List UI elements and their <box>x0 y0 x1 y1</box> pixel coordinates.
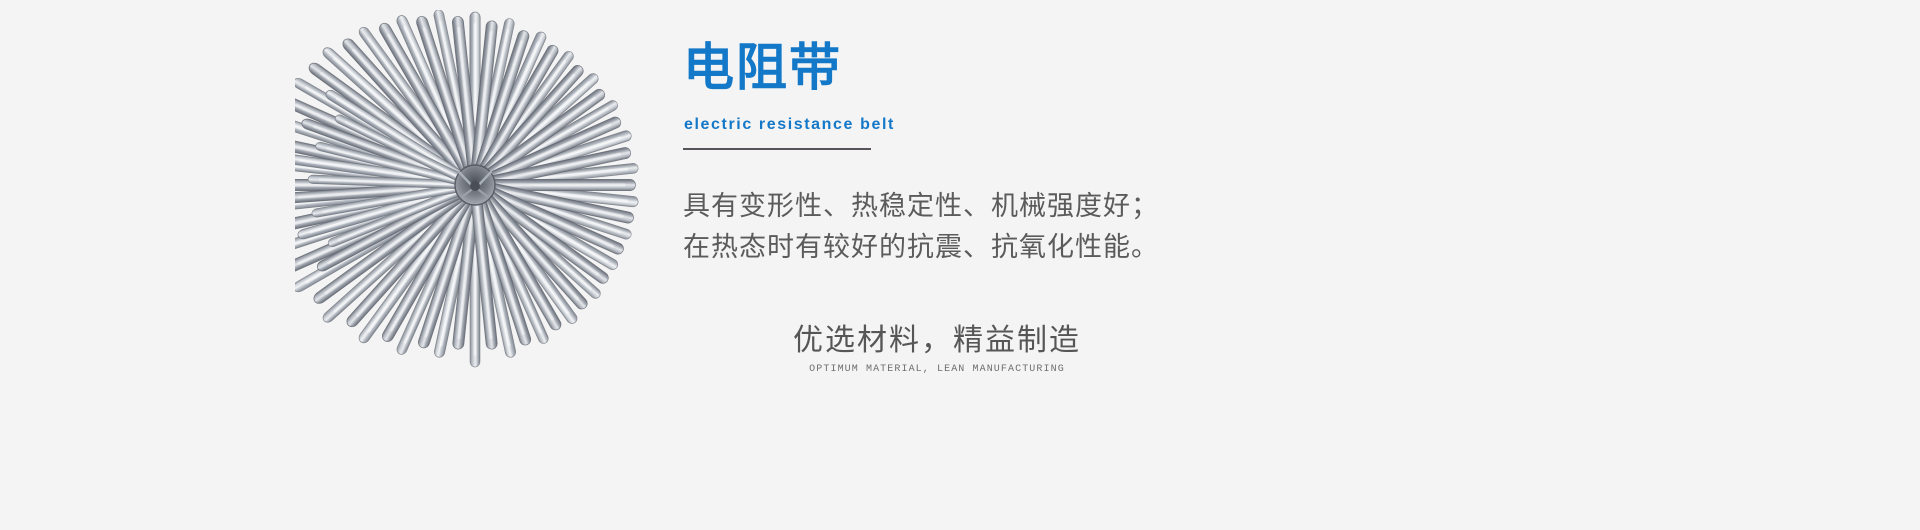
banner-text-column: 电阻带 electric resistance belt 具有变形性、热稳定性、… <box>683 0 1483 530</box>
title-divider <box>683 148 871 150</box>
tagline-chinese: 优选材料，精益制造 <box>777 322 1097 360</box>
page-subtitle-english: electric resistance belt <box>684 117 895 133</box>
tagline-block: 优选材料，精益制造 OPTIMUM MATERIAL, LEAN MANUFAC… <box>777 322 1097 375</box>
product-banner: 电阻带 electric resistance belt 具有变形性、热稳定性、… <box>0 0 1920 530</box>
resistance-belt-burst-icon <box>295 10 655 450</box>
description-line-1: 具有变形性、热稳定性、机械强度好； <box>683 186 1159 227</box>
description-line-2: 在热态时有较好的抗震、抗氧化性能。 <box>683 227 1159 268</box>
tagline-english: OPTIMUM MATERIAL, LEAN MANUFACTURING <box>777 364 1097 375</box>
product-description: 具有变形性、热稳定性、机械强度好； 在热态时有较好的抗震、抗氧化性能。 <box>683 186 1159 268</box>
page-title: 电阻带 <box>683 42 842 93</box>
product-image <box>295 10 655 450</box>
